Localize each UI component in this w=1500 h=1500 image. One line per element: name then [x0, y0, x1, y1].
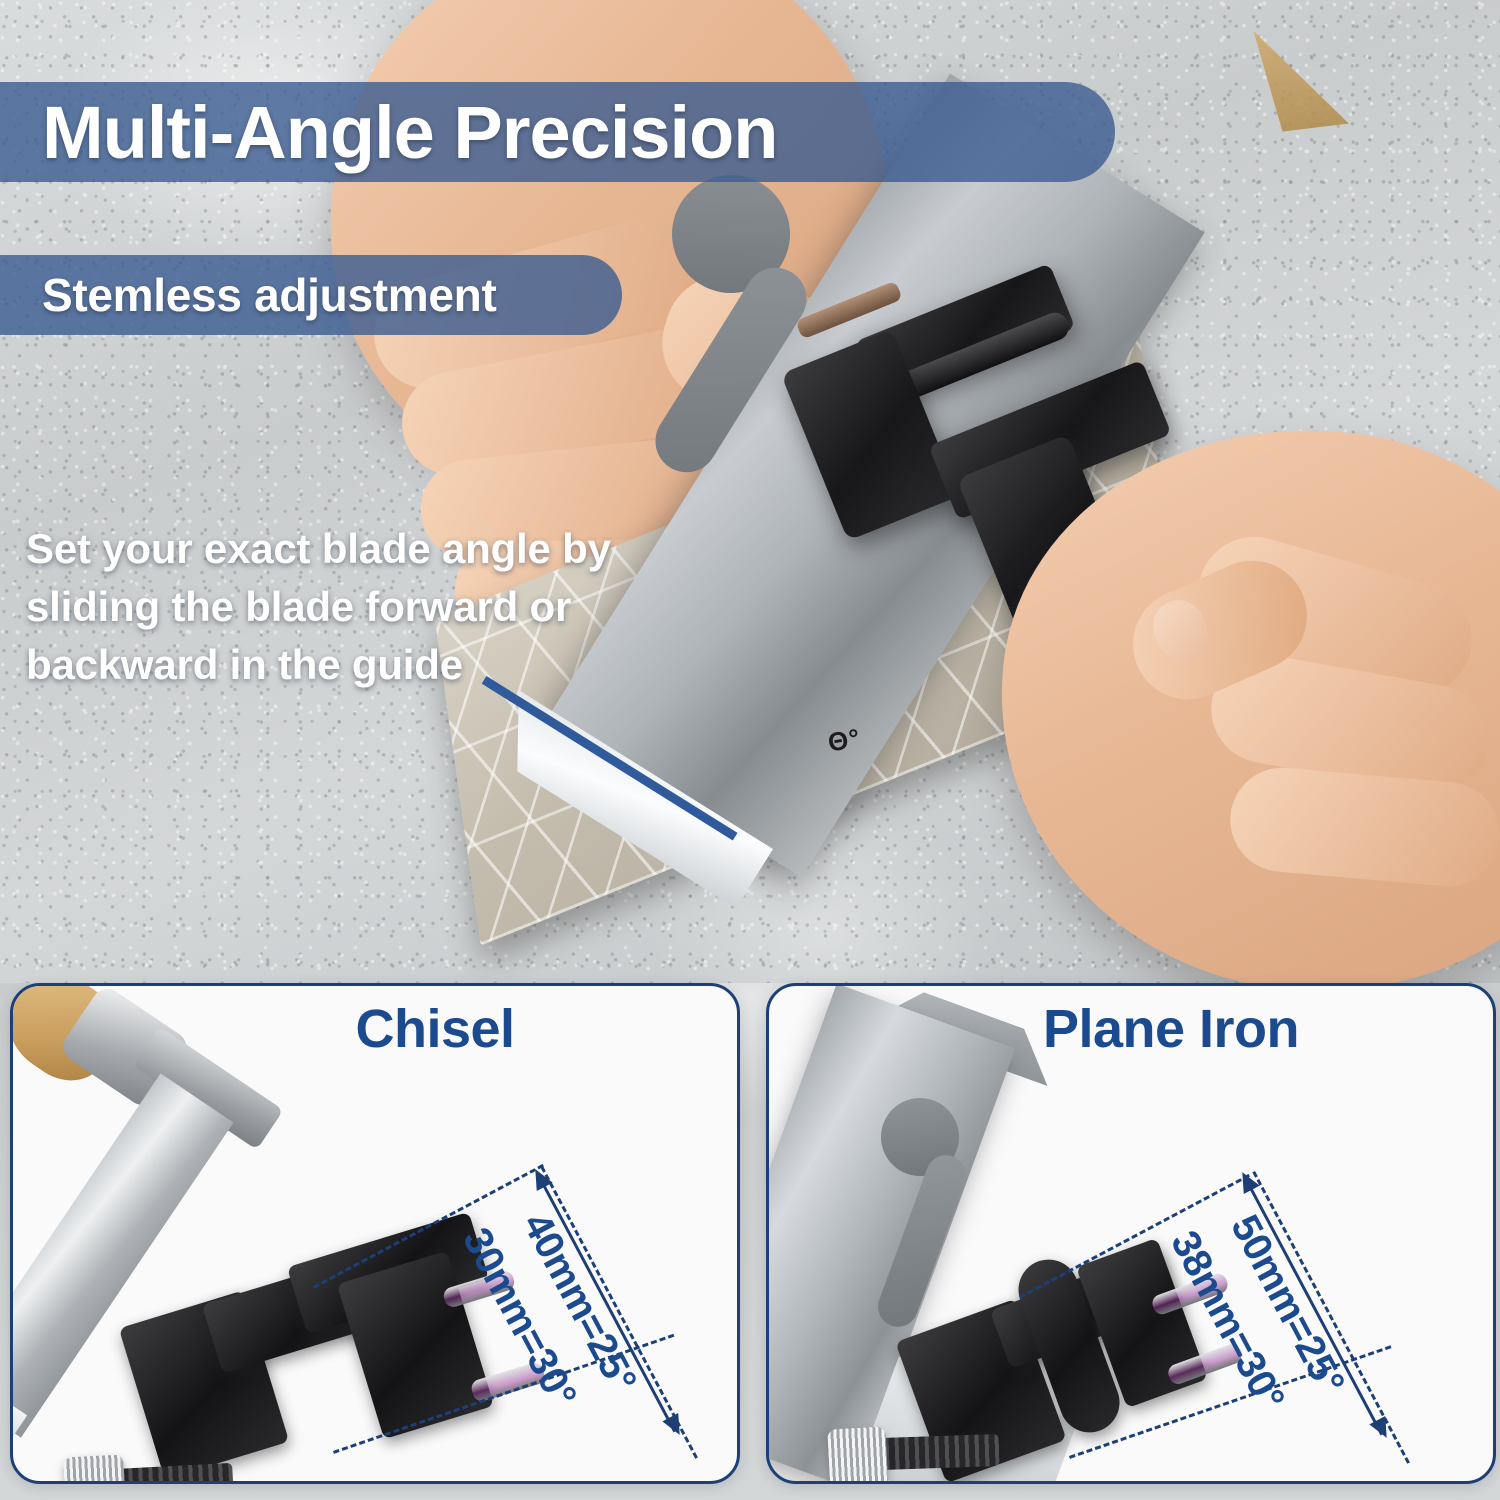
plane-jig-threaded-rod [878, 1434, 999, 1470]
product-infographic: Θ° Multi-Angle Precision Stemless adjust… [0, 0, 1500, 1500]
panel-plane-iron[interactable]: Plane Iron 50mm=25° 38mm=30° [766, 983, 1496, 1484]
plane-jig-thumbscrew [827, 1427, 888, 1484]
angle-theta-marker: Θ° [826, 722, 864, 758]
chisel-jig-thumbscrew [63, 1454, 127, 1484]
chisel-jig-threaded-rod [112, 1463, 234, 1484]
subtitle-banner: Stemless adjustment [0, 255, 622, 335]
feature-panels: Chisel [0, 983, 1500, 1500]
hero-photo: Θ° Multi-Angle Precision Stemless adjust… [0, 0, 1500, 983]
panel-chisel[interactable]: Chisel [10, 983, 740, 1484]
page-title: Multi-Angle Precision [42, 90, 778, 175]
page-subtitle: Stemless adjustment [42, 268, 496, 322]
body-copy: Set your exact blade angle by sliding th… [26, 520, 646, 694]
headline-banner: Multi-Angle Precision [0, 82, 1115, 182]
